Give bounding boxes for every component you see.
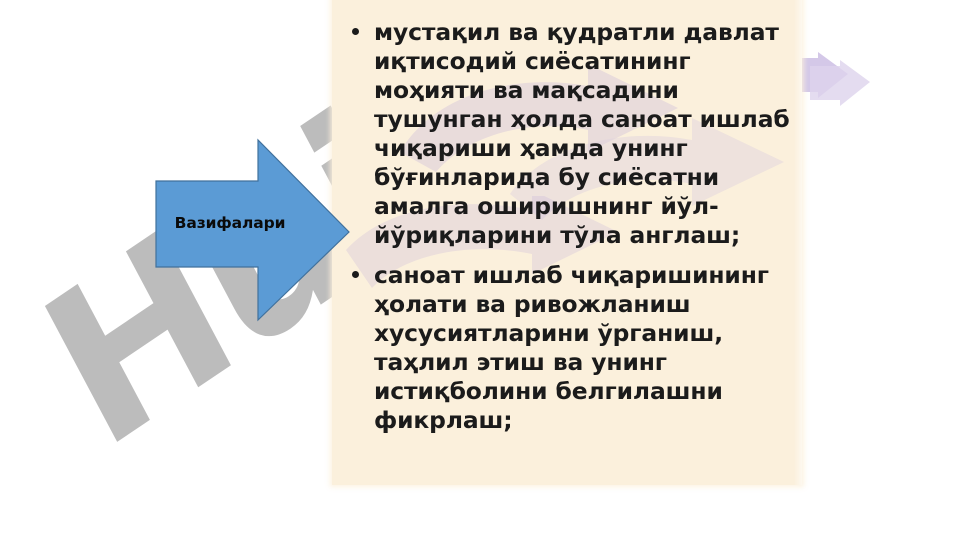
slide-canvas: Hujj Вазифалари мустақил ва қудр: [0, 0, 961, 540]
bullet-text: саноат ишлаб чиқаришининг ҳолати ва риво…: [374, 261, 769, 434]
bullet-item: саноат ишлаб чиқаришининг ҳолати ва риво…: [342, 261, 792, 435]
bullet-list: мустақил ва қудратли давлат иқтисодий си…: [342, 18, 792, 435]
bullet-text: мустақил ва қудратли давлат иқтисодий си…: [374, 18, 790, 249]
bullet-item: мустақил ва қудратли давлат иқтисодий си…: [342, 18, 792, 250]
bullet-dot-icon: [352, 271, 359, 278]
arrow-label: Вазифалари: [156, 214, 304, 232]
bullet-dot-icon: [352, 28, 359, 35]
panel-right-fade: [794, 0, 802, 485]
